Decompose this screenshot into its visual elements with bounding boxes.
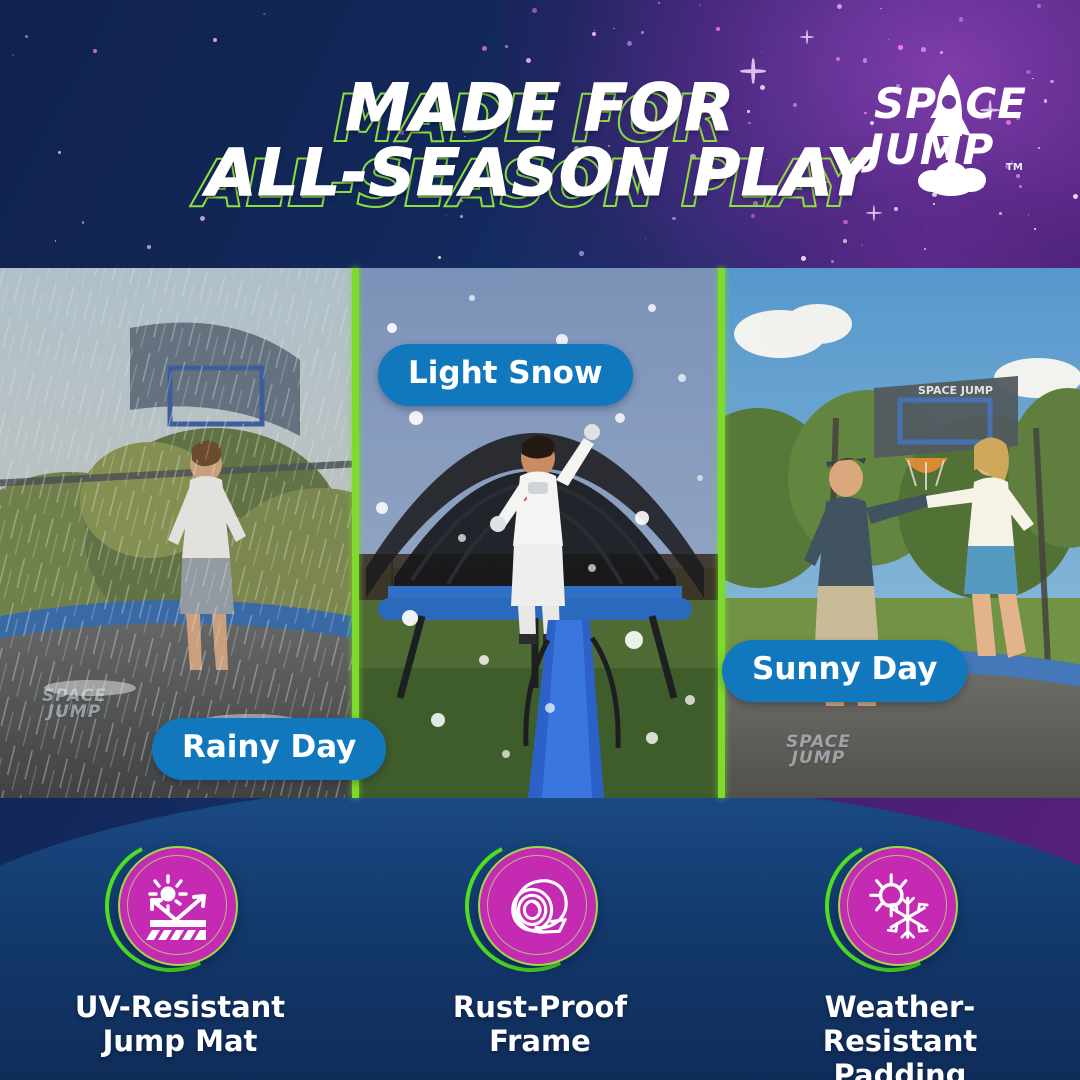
feature-label-weather-resistant: Weather-Resistant Padding xyxy=(791,990,1009,1080)
headline-line-2-text: ALL-SEASON PLAY xyxy=(206,136,873,211)
rocket-icon: SPACE JUMP TM xyxy=(860,72,1032,196)
weather-photo-band: SPACE JUMP xyxy=(0,268,1080,798)
headline-line-1-text: MADE FOR xyxy=(345,71,735,146)
mat-watermark-rainy: SPACE JUMP xyxy=(42,688,107,720)
badge-circle xyxy=(118,846,238,966)
feature-list: UV-Resistant Jump Mat xyxy=(0,846,1080,1076)
feature-label-uv-resistant: UV-Resistant Jump Mat xyxy=(71,990,289,1058)
label-pill-sunny-day: Sunny Day xyxy=(722,640,967,702)
badge-circle xyxy=(838,846,958,966)
sun-snowflake-icon xyxy=(863,871,933,941)
sunny-scene-image: SPACE JUMP xyxy=(718,268,1080,798)
uv-sun-deflect-icon xyxy=(142,870,214,942)
snowflake xyxy=(888,898,927,937)
photo-panel-sunny[interactable]: SPACE JUMP xyxy=(718,268,1080,798)
feature-weather-resistant[interactable]: Weather-Resistant Padding xyxy=(791,846,1009,1076)
svg-text:JUMP: JUMP xyxy=(861,125,994,174)
coil-roll-icon xyxy=(503,871,573,941)
panel-divider-right xyxy=(718,268,725,798)
mat-watermark-sunny: SPACE JUMP xyxy=(786,734,851,766)
badge-circle xyxy=(478,846,598,966)
promo-graphic: MADE FOR MADE FOR ALL-SEASON PLAY ALL-SE… xyxy=(0,0,1080,1080)
label-pill-light-snow: Light Snow xyxy=(378,344,633,406)
svg-text:TM: TM xyxy=(1006,162,1023,173)
feature-rust-proof[interactable]: Rust-Proof Frame xyxy=(431,846,649,1076)
brand-logo: SPACE JUMP TM xyxy=(860,72,1032,196)
feature-uv-resistant[interactable]: UV-Resistant Jump Mat xyxy=(71,846,289,1076)
label-pill-rainy-day: Rainy Day xyxy=(152,718,386,780)
feature-label-rust-proof: Rust-Proof Frame xyxy=(431,990,649,1058)
